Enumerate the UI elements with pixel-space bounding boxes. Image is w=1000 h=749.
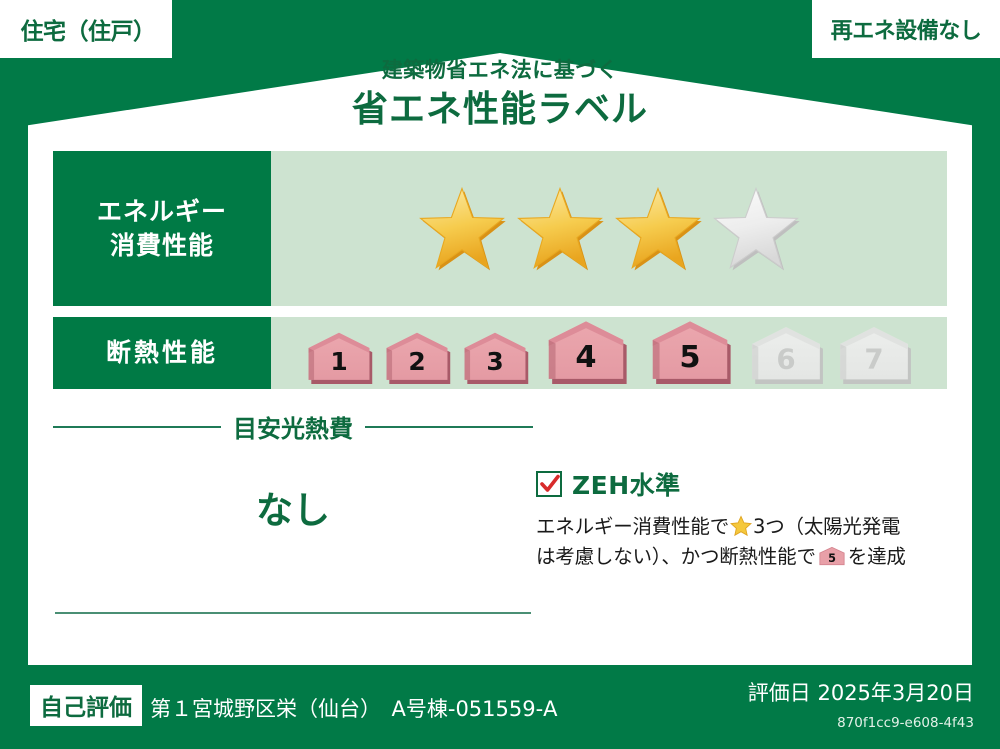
insulation-level-5: 5 [641, 318, 739, 384]
evaluation-date-value: 2025年3月20日 [817, 681, 974, 705]
page-title: 省エネ性能ラベル [0, 87, 1000, 132]
zeh-title: ZEH水準 [572, 466, 681, 502]
star-icon-filled [612, 183, 704, 275]
insulation-level-1: 1 [303, 330, 375, 384]
building-name: 第１宮城野区栄（仙台） A号棟-051559-A [150, 693, 558, 723]
estimated-utility-cost-title: 目安光熱費 [233, 409, 353, 444]
energy-performance-value-cell [271, 151, 947, 306]
check-icon [539, 473, 561, 495]
estimated-utility-cost-heading: 目安光熱費 [53, 409, 533, 444]
energy-performance-label: 住宅（住戸） 再エネ設備なし 建築物省エネ法に基づく 省エネ性能ラベル エネルギ… [0, 0, 1000, 749]
evaluation-date: 評価日 2025年3月20日 [748, 677, 974, 707]
insulation-badge-inline: 5 [819, 545, 845, 565]
insulation-level-7: 7 [833, 324, 915, 384]
divider-line-left [53, 426, 221, 428]
zeh-description: エネルギー消費性能で3つ（太陽光発電は考慮しない）、かつ断熱性能で5を達成 [536, 512, 948, 572]
insulation-level-number: 7 [864, 343, 883, 376]
divider-line-right [365, 426, 533, 428]
cost-bottom-rule [55, 612, 531, 614]
label-header: 建築物省エネ法に基づく 省エネ性能ラベル [0, 58, 1000, 132]
zeh-desc-part1: エネルギー消費性能で [536, 515, 729, 538]
tag-building-type: 住宅（住戸） [0, 0, 172, 58]
document-id: 870f1cc9-e608-4f43 [837, 715, 974, 731]
star-rating [416, 183, 802, 275]
insulation-level-number: 6 [776, 343, 795, 376]
energy-label-line1: エネルギー [97, 195, 227, 229]
energy-performance-label-cell: エネルギー 消費性能 [53, 151, 271, 306]
insulation-level-3: 3 [459, 330, 531, 384]
insulation-level-number: 2 [408, 347, 425, 376]
svg-text:5: 5 [828, 552, 836, 565]
header-subtitle: 建築物省エネ法に基づく [0, 58, 1000, 83]
zeh-standard-block: ZEH水準 エネルギー消費性能で3つ（太陽光発電は考慮しない）、かつ断熱性能で5… [536, 466, 948, 572]
insulation-level-number: 4 [575, 340, 596, 375]
self-evaluation-badge: 自己評価 [30, 685, 142, 726]
star-icon-empty [710, 183, 802, 275]
tag-renewable-equipment: 再エネ設備なし [812, 0, 1000, 58]
insulation-level-number: 3 [486, 347, 503, 376]
zeh-desc-part2: 3つ（太陽光発電 [753, 515, 900, 538]
estimated-utility-cost-value: なし [53, 480, 533, 534]
star-icon-filled [514, 183, 606, 275]
insulation-level-scale: 1234567 [303, 318, 915, 388]
star-icon-inline [730, 515, 752, 537]
insulation-level-4: 4 [537, 318, 635, 384]
insulation-level-number: 1 [330, 347, 347, 376]
zeh-heading: ZEH水準 [536, 466, 948, 502]
zeh-desc-part4: を達成 [848, 545, 906, 568]
insulation-level-number: 5 [679, 340, 700, 375]
evaluation-date-label: 評価日 [748, 681, 811, 705]
zeh-checkbox[interactable] [536, 471, 562, 497]
insulation-level-6: 6 [745, 324, 827, 384]
energy-performance-row: エネルギー 消費性能 [53, 151, 947, 306]
zeh-desc-part3: は考慮しない）、かつ断熱性能で [536, 545, 816, 568]
insulation-performance-row: 断熱性能 1234567 [53, 317, 947, 389]
energy-label-line2: 消費性能 [97, 229, 227, 263]
insulation-performance-label-cell: 断熱性能 [53, 317, 271, 389]
star-icon-filled [416, 183, 508, 275]
insulation-performance-value-cell: 1234567 [271, 317, 947, 389]
label-footer: 自己評価 第１宮城野区栄（仙台） A号棟-051559-A 評価日 2025年3… [0, 665, 1000, 749]
insulation-level-2: 2 [381, 330, 453, 384]
